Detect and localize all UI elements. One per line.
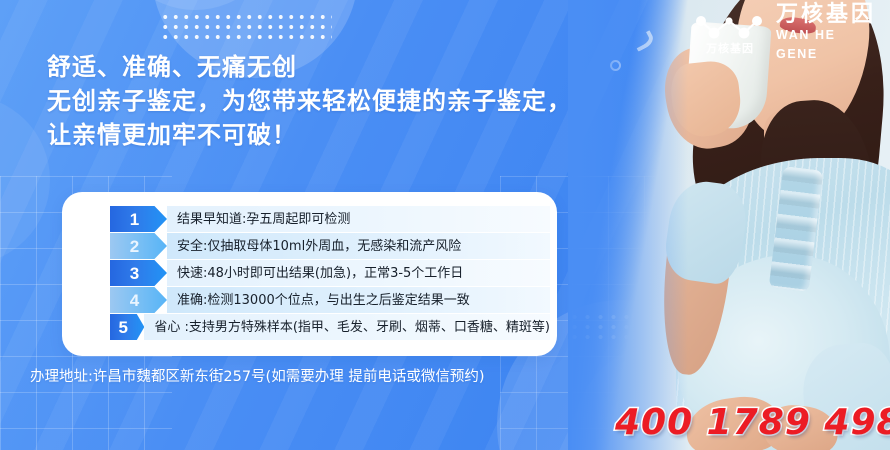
- feature-text: 快速:48小时即可出结果(加急)，正常3-5个工作日: [167, 260, 550, 286]
- feature-card: 1 结果早知道:孕五周起即可检测 2 安全:仅抽取母体10ml外周血，无感染和流…: [62, 192, 557, 356]
- feature-number-badge: 3: [110, 260, 167, 286]
- office-address: 办理地址:许昌市魏都区新东街257号(如需要办理 提前电话或微信预约): [30, 369, 484, 386]
- brand-name-en: WAN HE GENE: [776, 26, 882, 64]
- feature-text: 结果早知道:孕五周起即可检测: [167, 206, 550, 232]
- feature-number-badge: 5: [110, 314, 144, 340]
- list-item: 4 准确:检测13000个位点，与出生之后鉴定结果一致: [110, 287, 550, 313]
- list-item: 1 结果早知道:孕五周起即可检测: [110, 206, 550, 232]
- brand-logo: 万核基因 万核基因 WAN HE GENE: [692, 8, 882, 58]
- headline-block: 舒适、准确、无痛无创 无创亲子鉴定，为您带来轻松便捷的亲子鉴定， 让亲情更加牢不…: [47, 50, 647, 152]
- feature-number-badge: 1: [110, 206, 167, 232]
- brand-name-cn: 万核基因: [776, 3, 882, 26]
- headline-line-1: 舒适、准确、无痛无创: [47, 50, 647, 84]
- feature-number-badge: 2: [110, 233, 167, 259]
- headline-line-2: 无创亲子鉴定，为您带来轻松便捷的亲子鉴定，: [47, 84, 647, 118]
- feature-text: 安全:仅抽取母体10ml外周血，无感染和流产风险: [167, 233, 550, 259]
- feature-list: 1 结果早知道:孕五周起即可检测 2 安全:仅抽取母体10ml外周血，无感染和流…: [110, 206, 550, 341]
- feature-text: 准确:检测13000个位点，与出生之后鉴定结果一致: [167, 287, 550, 313]
- list-item: 2 安全:仅抽取母体10ml外周血，无感染和流产风险: [110, 233, 550, 259]
- headline-line-3: 让亲情更加牢不可破！: [47, 118, 647, 152]
- decorative-circle-left: [0, 95, 50, 265]
- hotline-phone-number[interactable]: 400 1789 498: [615, 402, 890, 443]
- promo-poster: 万核基因 万核基因 WAN HE GENE 舒适、准确、无痛无创 无创亲子鉴定，…: [0, 0, 890, 450]
- list-item: 3 快速:48小时即可出结果(加急)，正常3-5个工作日: [110, 260, 550, 286]
- molecule-dna-icon: 万核基因: [692, 10, 766, 56]
- decorative-circle-top-back: [110, 0, 280, 10]
- feature-text: 省心 :支持男方特殊样本(指甲、毛发、牙刷、烟蒂、口香糖、精斑等): [144, 314, 550, 340]
- feature-number-badge: 4: [110, 287, 167, 313]
- dot-grid-top: [160, 12, 332, 42]
- list-item: 5 省心 :支持男方特殊样本(指甲、毛发、牙刷、烟蒂、口香糖、精斑等): [110, 314, 550, 340]
- logo-mark-caption: 万核基因: [694, 40, 766, 56]
